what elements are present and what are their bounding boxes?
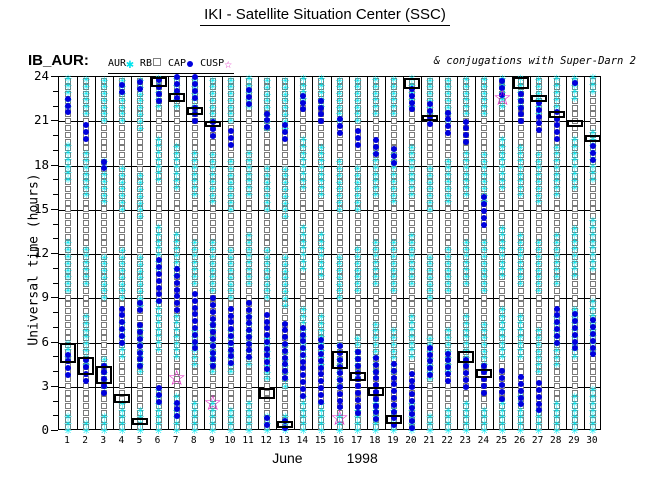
marker-cap	[590, 345, 596, 351]
marker-rb	[337, 234, 343, 240]
marker-rb	[65, 125, 71, 131]
y-tick-mark	[51, 209, 58, 210]
marker-cap	[355, 404, 361, 410]
marker-rb	[137, 145, 143, 151]
marker-cap	[192, 291, 198, 297]
marker-cap	[391, 153, 397, 159]
marker-rb	[445, 227, 451, 233]
marker-cap	[554, 306, 560, 312]
marker-rb	[499, 213, 505, 219]
x-tick-label: 23	[455, 435, 475, 446]
marker-cap	[228, 340, 234, 346]
marker-rb	[518, 213, 524, 219]
marker-rb	[536, 301, 542, 307]
conjugation-box	[386, 415, 402, 424]
marker-cap	[373, 369, 379, 375]
ssc-plot-page: IKI - Satellite Situation Center (SSC) I…	[0, 0, 650, 500]
marker-aur: ✳	[225, 157, 236, 166]
marker-rb	[119, 145, 125, 151]
marker-cap	[174, 280, 180, 286]
marker-cap	[536, 387, 542, 393]
marker-aur: ✳	[117, 164, 128, 173]
grid-line-vertical	[367, 77, 368, 429]
marker-aur: ✳	[225, 76, 236, 85]
marker-rb	[590, 376, 596, 382]
marker-rb	[590, 193, 596, 199]
marker-aur: ✳	[316, 230, 327, 239]
x-tick-label: 7	[166, 435, 186, 446]
marker-rb	[318, 213, 324, 219]
marker-cap	[156, 278, 162, 284]
marker-aur: ✳	[244, 399, 255, 408]
conjugation-box	[114, 394, 130, 403]
marker-cap	[391, 160, 397, 166]
marker-rb	[228, 220, 234, 226]
marker-rb	[572, 206, 578, 212]
y-tick-minor	[53, 224, 58, 225]
marker-rb	[300, 281, 306, 287]
marker-rb	[101, 227, 107, 233]
marker-cap	[210, 302, 216, 308]
marker-aur: ✳	[388, 238, 399, 247]
marker-cap	[156, 291, 162, 297]
marker-rb	[536, 213, 542, 219]
marker-cap	[337, 391, 343, 397]
marker-rb	[590, 363, 596, 369]
marker-cap	[373, 403, 379, 409]
square-icon	[153, 58, 161, 66]
marker-rb	[427, 308, 433, 314]
y-tick-minor	[53, 327, 58, 328]
marker-aur: ✳	[153, 223, 164, 232]
marker-rb	[554, 213, 560, 219]
marker-rb	[282, 396, 288, 402]
marker-aur: ✳	[569, 135, 580, 144]
marker-rb	[228, 396, 234, 402]
marker-cap	[463, 384, 469, 390]
marker-cap	[210, 336, 216, 342]
marker-cap	[427, 352, 433, 358]
y-tick-mark	[51, 297, 58, 298]
marker-rb	[427, 315, 433, 321]
marker-aur: ✳	[189, 238, 200, 247]
marker-rb	[101, 315, 107, 321]
marker-rb	[463, 213, 469, 219]
marker-rb	[536, 220, 542, 226]
page-title: IKI - Satellite Situation Center (SSC)	[0, 6, 650, 26]
asterisk-icon: ✱	[126, 57, 134, 72]
marker-cap	[427, 101, 433, 107]
marker-rb	[101, 145, 107, 151]
marker-rb	[65, 220, 71, 226]
marker-rb	[409, 132, 415, 138]
marker-rb	[192, 139, 198, 145]
marker-cap	[264, 319, 270, 325]
marker-cap	[228, 333, 234, 339]
x-axis-month: June	[272, 450, 302, 466]
marker-cap	[210, 363, 216, 369]
marker-aur: ✳	[388, 75, 399, 84]
marker-rb	[590, 98, 596, 104]
y-tick-label: 15	[16, 201, 49, 216]
marker-rb	[536, 308, 542, 314]
marker-rb	[391, 308, 397, 314]
marker-rb	[83, 295, 89, 301]
marker-aur: ✳	[479, 75, 490, 84]
marker-cap	[481, 222, 487, 228]
marker-rb	[518, 220, 524, 226]
marker-cap	[409, 93, 415, 99]
conjugation-box	[531, 95, 547, 102]
marker-rb	[119, 139, 125, 145]
legend: AUR✱ RB CAP CUSP☆	[108, 55, 234, 74]
marker-cap	[119, 340, 125, 346]
marker-cap	[391, 409, 397, 415]
marker-rb	[65, 301, 71, 307]
marker-aur: ✳	[262, 76, 273, 85]
x-tick-label: 4	[111, 435, 131, 446]
marker-rb	[445, 234, 451, 240]
marker-cap	[156, 264, 162, 270]
marker-cap	[536, 107, 542, 113]
y-tick-minor	[53, 401, 58, 402]
marker-cap	[156, 98, 162, 104]
marker-rb	[373, 125, 379, 131]
marker-cap	[518, 395, 524, 401]
marker-rb	[300, 118, 306, 124]
marker-aur: ✳	[99, 76, 110, 85]
marker-rb	[554, 295, 560, 301]
marker-rb	[427, 322, 433, 328]
marker-aur: ✳	[262, 164, 273, 173]
grid-line-vertical	[439, 77, 440, 429]
marker-rb	[445, 139, 451, 145]
marker-rb	[246, 206, 252, 212]
marker-rb	[119, 227, 125, 233]
x-tick-label: 18	[365, 435, 385, 446]
marker-rb	[373, 295, 379, 301]
marker-rb	[337, 329, 343, 335]
marker-rb	[300, 288, 306, 294]
y-tick-mark	[51, 386, 58, 387]
marker-cap	[65, 96, 71, 102]
marker-cap	[481, 390, 487, 396]
marker-cap	[409, 425, 415, 431]
marker-cap	[536, 407, 542, 413]
x-tick-label: 1	[57, 435, 77, 446]
marker-aur: ✳	[533, 326, 544, 335]
conjugation-box	[169, 93, 185, 102]
marker-rb	[318, 220, 324, 226]
legend-item-rb-label: RB	[140, 58, 152, 69]
marker-aur: ✳	[461, 238, 472, 247]
marker-rb	[337, 240, 343, 246]
marker-cap	[246, 87, 252, 93]
marker-cap	[137, 350, 143, 356]
marker-aur: ✳	[515, 143, 526, 152]
marker-aur: ✳	[425, 412, 436, 421]
grid-line-vertical	[204, 77, 205, 429]
marker-rb	[337, 308, 343, 314]
marker-rb	[264, 227, 270, 233]
marker-rb	[83, 301, 89, 307]
marker-aur: ✳	[425, 334, 436, 343]
marker-rb	[119, 234, 125, 240]
y-tick-label: 18	[16, 157, 49, 172]
marker-aur: ✳	[63, 74, 74, 83]
x-tick-label: 22	[437, 435, 457, 446]
marker-rb	[156, 200, 162, 206]
marker-aur: ✳	[81, 312, 92, 321]
marker-cusp: ☆	[329, 407, 351, 429]
marker-cap	[554, 136, 560, 142]
marker-rb	[481, 396, 487, 402]
marker-aur: ✳	[352, 245, 363, 254]
marker-cap	[101, 159, 107, 165]
marker-rb	[337, 220, 343, 226]
marker-cusp: ☆	[491, 87, 513, 109]
marker-rb	[101, 308, 107, 314]
y-tick-mark	[51, 120, 58, 121]
marker-cap	[572, 332, 578, 338]
marker-rb	[481, 139, 487, 145]
marker-rb	[318, 132, 324, 138]
marker-aur: ✳	[189, 149, 200, 158]
conjugation-box	[259, 388, 275, 398]
marker-rb	[536, 139, 542, 145]
marker-aur: ✳	[334, 76, 345, 85]
y-tick-minor	[53, 371, 58, 372]
y-tick-minor	[53, 415, 58, 416]
marker-cap	[518, 381, 524, 387]
legend-item-cusp-label: CUSP	[200, 58, 224, 69]
marker-cap	[536, 380, 542, 386]
marker-rb	[246, 383, 252, 389]
marker-rb	[65, 383, 71, 389]
marker-cap	[192, 318, 198, 324]
marker-rb	[463, 390, 469, 396]
x-tick-label: 20	[401, 435, 421, 446]
conjugation-box	[96, 366, 112, 384]
marker-rb	[463, 206, 469, 212]
y-tick-mark	[51, 165, 58, 166]
marker-cap	[192, 81, 198, 87]
marker-aur: ✳	[551, 143, 562, 152]
marker-cap	[156, 91, 162, 97]
marker-rb	[427, 403, 433, 409]
star-outline-icon: ☆	[224, 57, 232, 72]
grid-line-vertical	[421, 77, 422, 429]
x-tick-label: 6	[148, 435, 168, 446]
marker-cap	[264, 339, 270, 345]
marker-aur: ✳	[587, 216, 598, 225]
marker-rb	[174, 125, 180, 131]
marker-rb	[83, 234, 89, 240]
marker-aur: ✳	[406, 312, 417, 321]
marker-rb	[192, 376, 198, 382]
marker-aur: ✳	[153, 135, 164, 144]
marker-cap	[373, 137, 379, 143]
marker-rb	[300, 111, 306, 117]
y-tick-minor	[53, 238, 58, 239]
marker-rb	[499, 118, 505, 124]
marker-cap	[174, 81, 180, 87]
conjugation-box	[422, 115, 438, 121]
y-tick-label: 24	[16, 68, 49, 83]
marker-rb	[391, 220, 397, 226]
x-tick-label: 3	[93, 435, 113, 446]
marker-cap	[463, 119, 469, 125]
marker-cap	[174, 300, 180, 306]
marker-aur: ✳	[425, 164, 436, 173]
marker-cap	[210, 309, 216, 315]
marker-cap	[156, 385, 162, 391]
marker-aur: ✳	[225, 246, 236, 255]
marker-rb	[137, 396, 143, 402]
marker-aur: ✳	[316, 74, 327, 83]
marker-rb	[192, 125, 198, 131]
conjugation-box	[277, 421, 293, 428]
marker-cap	[518, 91, 524, 97]
marker-rb	[445, 390, 451, 396]
marker-rb	[246, 132, 252, 138]
marker-rb	[101, 139, 107, 145]
grid-line-vertical	[530, 77, 531, 429]
marker-cap	[156, 271, 162, 277]
marker-rb	[572, 111, 578, 117]
x-tick-label: 27	[528, 435, 548, 446]
y-tick-minor	[53, 91, 58, 92]
marker-aur: ✳	[63, 141, 74, 150]
x-tick-label: 24	[473, 435, 493, 446]
marker-cap	[554, 340, 560, 346]
marker-rb	[427, 240, 433, 246]
grid-line-vertical	[131, 77, 132, 429]
marker-cap	[536, 401, 542, 407]
marker-rb	[156, 206, 162, 212]
marker-aur: ✳	[443, 157, 454, 166]
grid-line-vertical	[77, 77, 78, 429]
marker-rb	[337, 145, 343, 151]
marker-rb	[445, 315, 451, 321]
marker-cap	[246, 341, 252, 347]
grid-line-vertical	[566, 77, 567, 429]
x-axis-year: 1998	[347, 450, 378, 466]
marker-cap	[83, 378, 89, 384]
y-tick-label: 21	[16, 112, 49, 127]
grid-line-vertical	[258, 77, 259, 429]
marker-cap	[337, 398, 343, 404]
conjugation-box	[60, 343, 76, 364]
marker-cap	[246, 101, 252, 107]
conjugation-box	[549, 111, 565, 118]
marker-rb	[409, 213, 415, 219]
marker-rb	[373, 206, 379, 212]
marker-cap	[409, 398, 415, 404]
marker-rb	[355, 234, 361, 240]
marker-rb	[481, 125, 487, 131]
marker-rb	[137, 315, 143, 321]
marker-rb	[83, 227, 89, 233]
marker-rb	[119, 383, 125, 389]
marker-cap	[481, 363, 487, 369]
marker-cap	[192, 118, 198, 124]
y-tick-mark	[51, 342, 58, 343]
conjugation-box	[567, 120, 583, 127]
marker-rb	[137, 234, 143, 240]
marker-rb	[391, 227, 397, 233]
marker-rb	[65, 200, 71, 206]
x-tick-label: 17	[347, 435, 367, 446]
marker-cap	[228, 306, 234, 312]
marker-rb	[101, 335, 107, 341]
marker-aur: ✳	[461, 399, 472, 408]
marker-aur: ✳	[587, 297, 598, 306]
marker-cap	[572, 325, 578, 331]
marker-rb	[101, 240, 107, 246]
marker-rb	[409, 118, 415, 124]
marker-cap	[409, 100, 415, 106]
marker-rb	[590, 369, 596, 375]
x-tick-label: 29	[564, 435, 584, 446]
marker-aur: ✳	[370, 75, 381, 84]
marker-aur: ✳	[280, 76, 291, 85]
marker-cap	[391, 388, 397, 394]
marker-aur: ✳	[352, 334, 363, 343]
marker-aur: ✳	[479, 150, 490, 159]
marker-aur: ✳	[207, 76, 218, 85]
marker-rb	[536, 227, 542, 233]
marker-cap	[355, 383, 361, 389]
marker-rb	[264, 152, 270, 158]
grid-line-vertical	[493, 77, 494, 429]
marker-rb	[300, 295, 306, 301]
marker-rb	[391, 213, 397, 219]
marker-rb	[590, 111, 596, 117]
marker-rb	[590, 118, 596, 124]
marker-rb	[318, 301, 324, 307]
marker-rb	[445, 220, 451, 226]
grid-line-vertical	[294, 77, 295, 429]
marker-aur: ✳	[280, 253, 291, 262]
marker-aur: ✳	[352, 76, 363, 85]
marker-cusp: ☆	[202, 392, 224, 414]
marker-rb	[427, 152, 433, 158]
conjugation-box	[78, 357, 94, 375]
marker-cap	[518, 388, 524, 394]
marker-aur: ✳	[533, 75, 544, 84]
x-tick-label: 5	[129, 435, 149, 446]
marker-cap	[536, 127, 542, 133]
marker-rb	[210, 220, 216, 226]
marker-cap	[409, 378, 415, 384]
grid-line-vertical	[331, 77, 332, 429]
marker-cap	[210, 316, 216, 322]
marker-rb	[65, 193, 71, 199]
marker-rb	[101, 322, 107, 328]
marker-aur: ✳	[370, 320, 381, 329]
marker-aur: ✳	[425, 253, 436, 262]
marker-rb	[463, 301, 469, 307]
marker-rb	[65, 227, 71, 233]
marker-rb	[65, 403, 71, 409]
x-tick-label: 12	[256, 435, 276, 446]
grid-line-vertical	[457, 77, 458, 429]
marker-rb	[337, 227, 343, 233]
conjugation-box	[187, 107, 203, 116]
page-title-text: IKI - Satellite Situation Center (SSC)	[200, 6, 450, 26]
marker-cap	[210, 329, 216, 335]
